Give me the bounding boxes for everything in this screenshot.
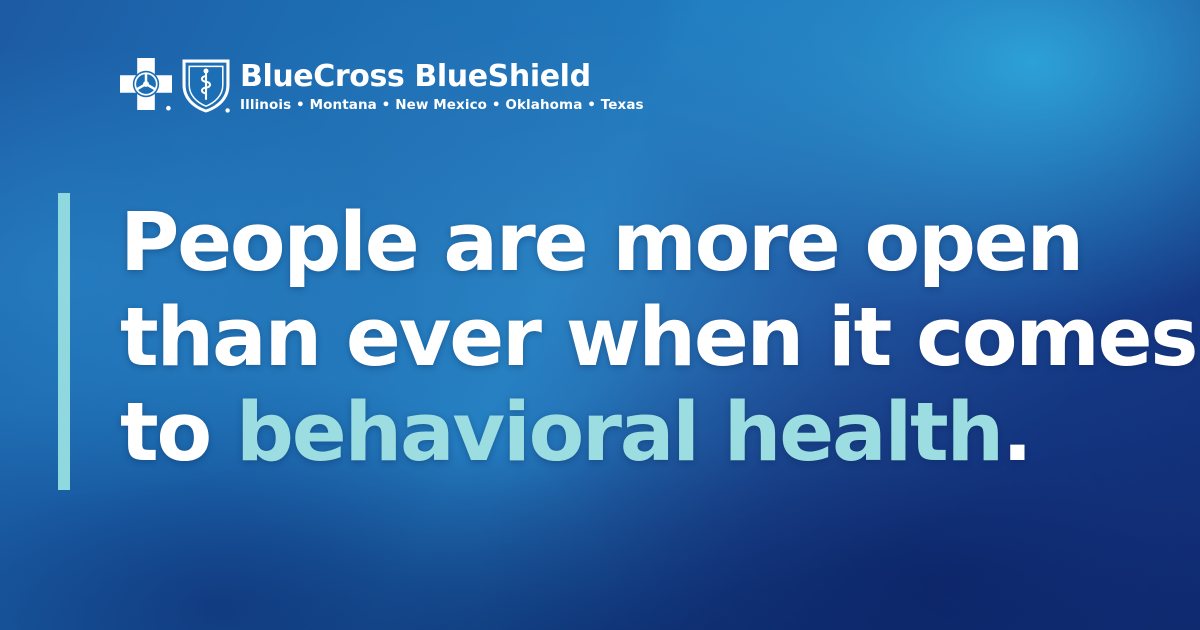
brand-wordmark: BlueCross BlueShield — [240, 61, 644, 93]
logo-text-block: BlueCross BlueShield Illinois • Montana … — [240, 58, 644, 113]
blue-cross-symbol — [120, 58, 172, 117]
bcbs-logo[interactable]: BlueCross BlueShield Illinois • Montana … — [120, 58, 644, 119]
headline-line-2: than ever when it comes — [120, 291, 1180, 386]
headline-accent-bar — [58, 193, 70, 490]
headline-line-3-period: . — [1002, 386, 1031, 480]
headline-line-3: to behavioral health. — [120, 386, 1180, 481]
blue-shield-symbol — [181, 58, 231, 119]
headline-line-3-accent: behavioral health — [236, 386, 1002, 480]
headline-line-1: People are more open — [120, 196, 1180, 291]
headline: People are more open than ever when it c… — [120, 196, 1180, 481]
brand-state-tagline: Illinois • Montana • New Mexico • Oklaho… — [240, 97, 644, 114]
headline-line-3-prefix: to — [120, 386, 236, 480]
promo-banner: BlueCross BlueShield Illinois • Montana … — [0, 0, 1200, 630]
